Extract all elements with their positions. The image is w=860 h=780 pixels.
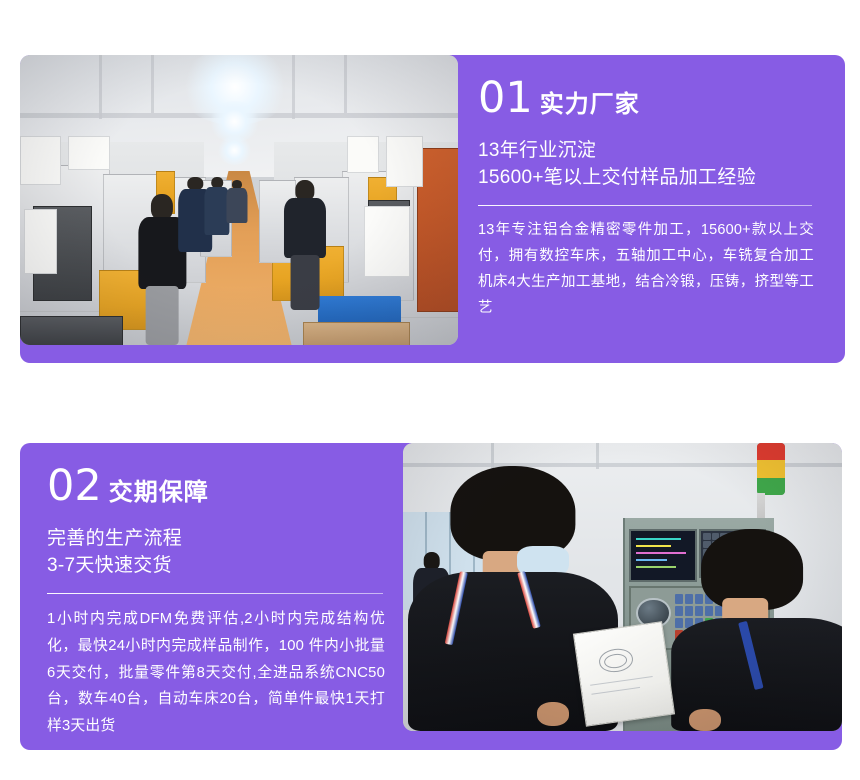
engineers-inspection-photo — [403, 443, 842, 731]
card-02-number: 02 — [47, 465, 102, 508]
card-02-subtitle: 完善的生产流程 3-7天快速交货 — [47, 526, 399, 580]
card-02-title: 交期保障 — [109, 481, 209, 505]
card-01-subtitle: 13年行业沉淀 15600+笔以上交付样品加工经验 — [478, 138, 828, 192]
vignette — [403, 443, 842, 731]
promo-page: 01 实力厂家 13年行业沉淀 15600+笔以上交付样品加工经验 13年专注铝… — [0, 0, 860, 780]
card-02-subtitle-line-2: 3-7天快速交货 — [47, 553, 399, 580]
card-02-heading: 02 交期保障 — [47, 465, 399, 508]
inspection-scene — [403, 443, 842, 731]
cnc-workshop-photo — [20, 55, 458, 345]
card-01-text-panel: 01 实力厂家 13年行业沉淀 15600+笔以上交付样品加工经验 13年专注铝… — [478, 77, 828, 322]
card-01-heading: 01 实力厂家 — [478, 77, 828, 120]
card-01-number: 01 — [478, 77, 533, 120]
card-01-title: 实力厂家 — [540, 93, 640, 117]
card-01-subtitle-line-1: 13年行业沉淀 — [478, 138, 828, 165]
vignette — [20, 55, 458, 345]
card-02-divider — [47, 593, 383, 595]
card-01-body: 13年专注铝合金精密零件加工，15600+款以上交付，拥有数控车床，五轴加工中心… — [478, 218, 814, 321]
card-01-divider — [478, 205, 812, 207]
card-01-subtitle-line-2: 15600+笔以上交付样品加工经验 — [478, 165, 828, 192]
workshop-scene — [20, 55, 458, 345]
feature-card-02: 02 交期保障 完善的生产流程 3-7天快速交货 1小时内完成DFM免费评估,2… — [20, 443, 842, 750]
card-02-subtitle-line-1: 完善的生产流程 — [47, 526, 399, 553]
feature-card-01: 01 实力厂家 13年行业沉淀 15600+笔以上交付样品加工经验 13年专注铝… — [20, 55, 845, 363]
card-02-text-panel: 02 交期保障 完善的生产流程 3-7天快速交货 1小时内完成DFM免费评估,2… — [47, 465, 399, 740]
card-02-body: 1小时内完成DFM免费评估,2小时内完成结构优化，最快24小时内完成样品制作，1… — [47, 606, 385, 739]
